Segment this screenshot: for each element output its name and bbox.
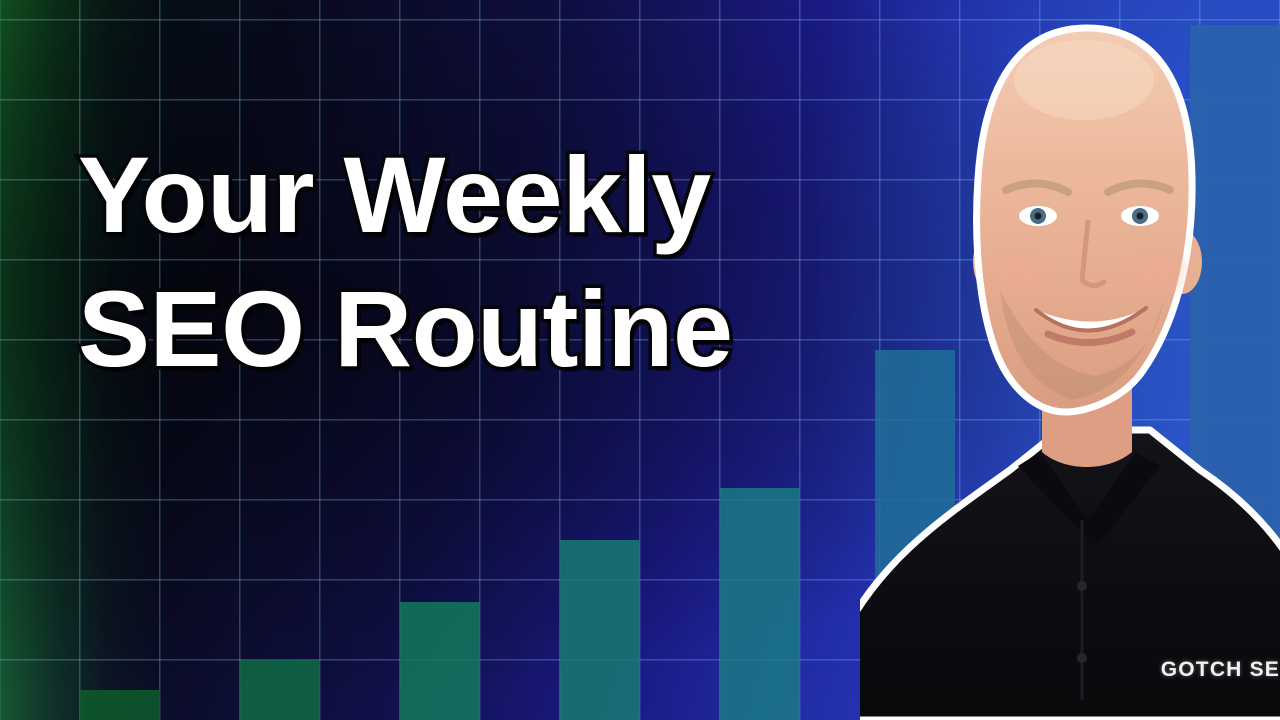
title-line-2: SEO Routine xyxy=(78,262,908,396)
bar-5 xyxy=(720,488,800,720)
bar-4 xyxy=(560,540,640,720)
pupil-left xyxy=(1035,213,1042,220)
bar-2 xyxy=(240,660,320,720)
pupil-right xyxy=(1137,213,1144,220)
youtube-thumbnail: Your Weekly SEO Routine xyxy=(0,0,1280,720)
bar-1 xyxy=(80,690,160,720)
page-title: Your Weekly SEO Routine xyxy=(78,128,908,396)
forehead-highlight xyxy=(1014,40,1154,120)
shirt-button-2 xyxy=(1077,653,1087,663)
title-line-1: Your Weekly xyxy=(78,128,908,262)
presenter-photo xyxy=(860,0,1280,720)
cheek-right xyxy=(1116,242,1196,302)
bar-3 xyxy=(400,602,480,720)
brand-logo-text: GOTCH SE xyxy=(1161,658,1280,682)
cheek-left xyxy=(978,242,1058,302)
presenter-silhouette xyxy=(860,0,1280,720)
shirt-button-1 xyxy=(1077,581,1087,591)
